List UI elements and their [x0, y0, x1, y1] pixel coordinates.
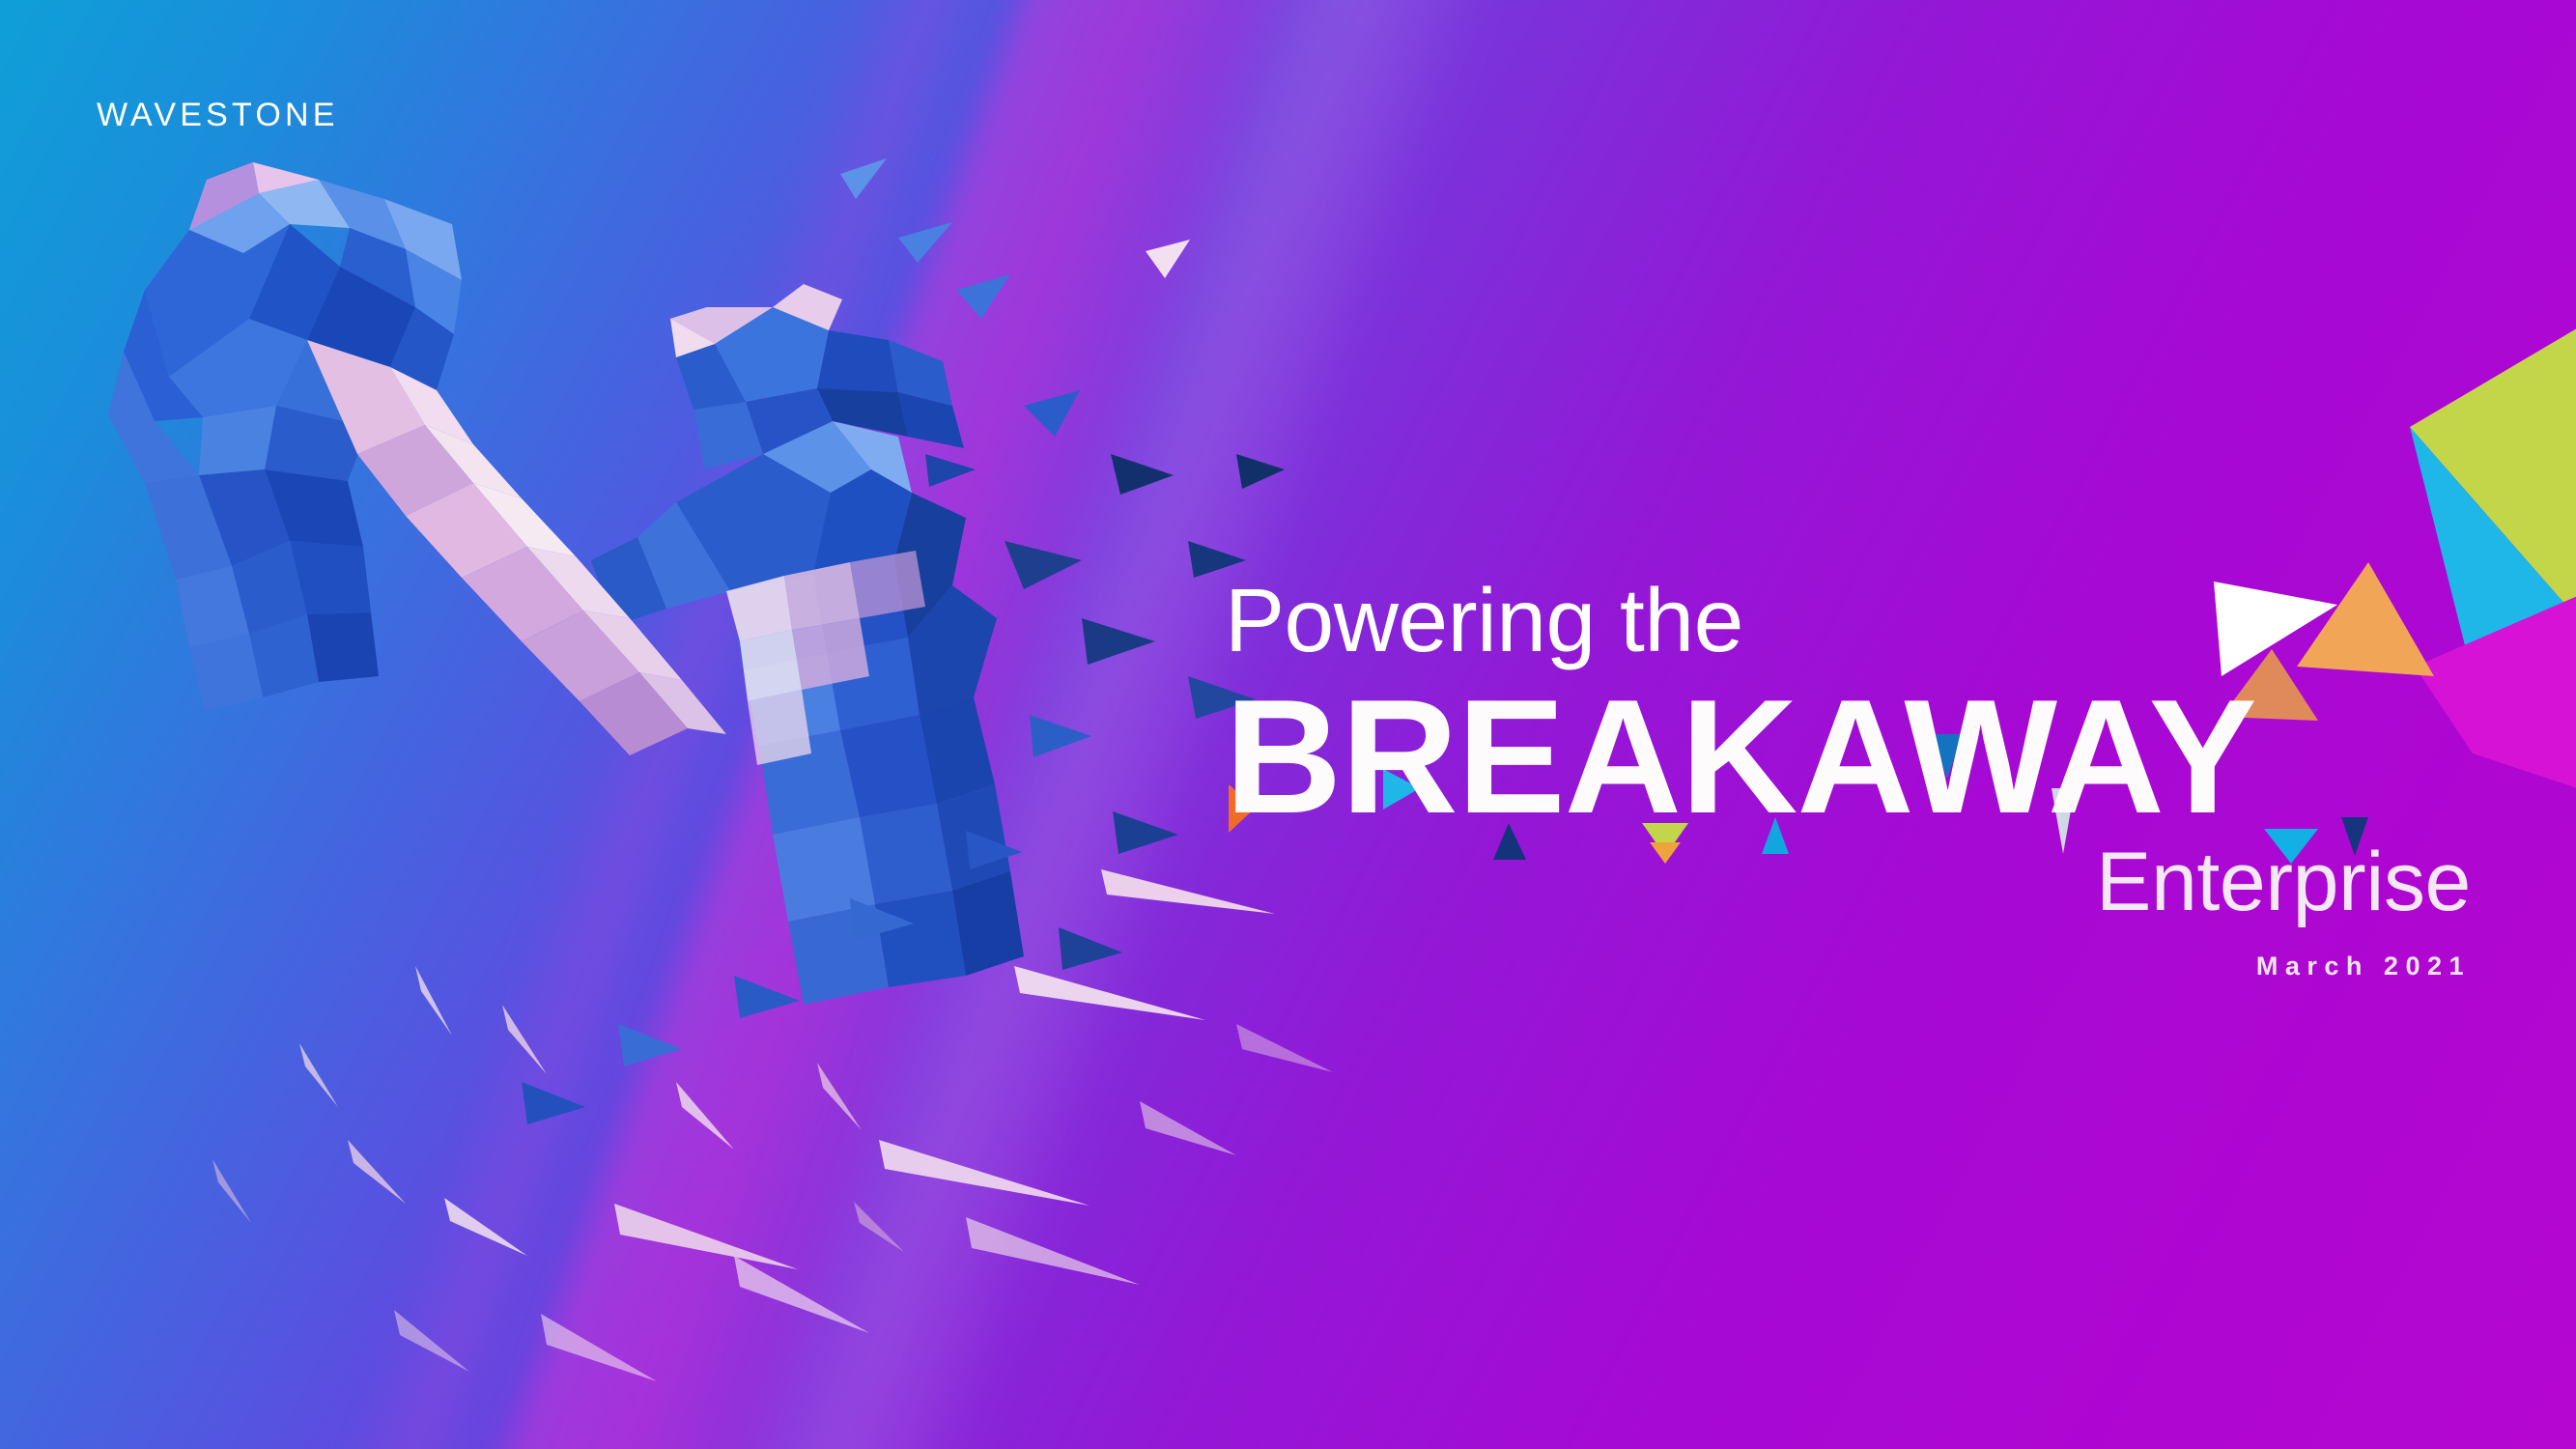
title-subhead: Enterprise — [1225, 838, 2471, 925]
slide-date: March 2021 — [1225, 952, 2471, 981]
title-eyebrow: Powering the — [1225, 576, 2471, 666]
title-block: Powering the BREAKAWAY Enterprise March … — [1225, 576, 2471, 981]
presentation-slide: WAVESTONE Powering the BREAKAWAY Enterpr… — [0, 0, 2576, 1449]
title-headline: BREAKAWAY — [1225, 679, 2471, 835]
